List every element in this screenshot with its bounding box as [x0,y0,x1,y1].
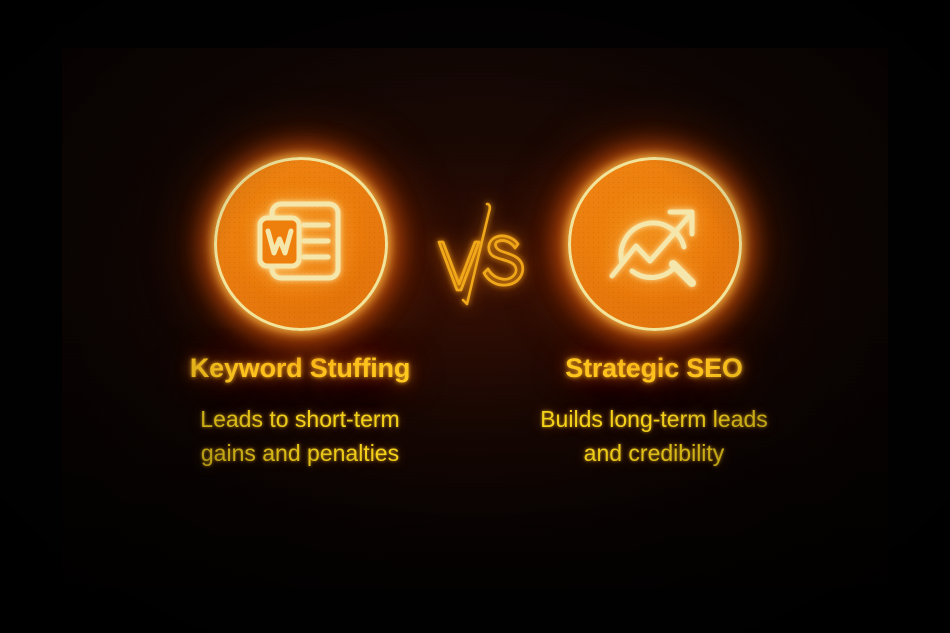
column-description-keyword-stuffing: Leads to short-term gains and penalties [135,402,465,470]
badge-circle [568,157,742,331]
infographic-canvas: Keyword Stuffing Leads to short-term gai… [0,0,950,633]
description-line: gains and penalties [135,436,465,470]
column-description-strategic-seo: Builds long-term leads and credibility [489,402,819,470]
comparison-column-keyword-stuffing: Keyword Stuffing Leads to short-term gai… [135,155,465,470]
badge-circle [214,157,388,331]
badge-keyword-stuffing [212,155,388,331]
description-line: and credibility [489,436,819,470]
word-document-icon [249,192,353,296]
comparison-column-strategic-seo: Strategic SEO Builds long-term leads and… [489,155,819,470]
description-line: Builds long-term leads [489,402,819,436]
magnifier-growth-chart-icon [602,191,708,297]
column-title-strategic-seo: Strategic SEO [489,353,819,384]
description-line: Leads to short-term [135,402,465,436]
badge-strategic-seo [566,155,742,331]
column-title-keyword-stuffing: Keyword Stuffing [135,353,465,384]
